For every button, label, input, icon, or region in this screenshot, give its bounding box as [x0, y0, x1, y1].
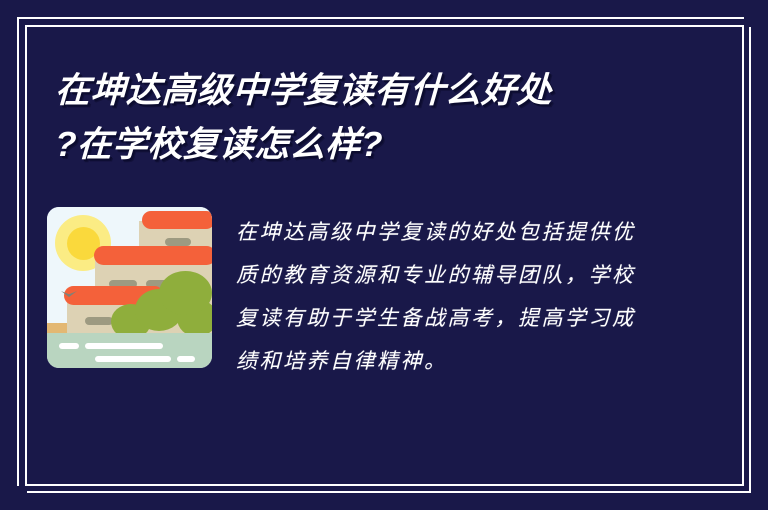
- placeholder-bar: [85, 343, 163, 349]
- window-bottom: [85, 317, 113, 325]
- headline-line-1: 在坤达高级中学复读有什么好处: [54, 64, 696, 118]
- frame-corner-mask-top-right: [744, 0, 768, 27]
- placeholder-bar: [95, 356, 171, 362]
- window-top: [165, 238, 191, 246]
- frame-corner-mask-bottom-left: [0, 486, 27, 510]
- roof-middle: [94, 246, 212, 265]
- info-card-placeholder: [47, 333, 212, 368]
- bush-large: [159, 271, 212, 315]
- headline-line-2: ?在学校复读怎么样?: [54, 118, 696, 172]
- poster-canvas: 在坤达高级中学复读有什么好处 ?在学校复读怎么样?: [0, 0, 768, 510]
- placeholder-bar: [59, 343, 79, 349]
- body-paragraph: 在坤达高级中学复读的好处包括提供优质的教育资源和专业的辅导团队，学校复读有助于学…: [236, 211, 656, 383]
- headline: 在坤达高级中学复读有什么好处 ?在学校复读怎么样?: [55, 64, 695, 172]
- bird-icon: [61, 291, 77, 300]
- content-row: 在坤达高级中学复读的好处包括提供优质的教育资源和专业的辅导团队，学校复读有助于学…: [47, 207, 707, 457]
- school-campus-illustration: [47, 207, 212, 368]
- roof-top: [142, 211, 212, 229]
- placeholder-bar: [177, 356, 195, 362]
